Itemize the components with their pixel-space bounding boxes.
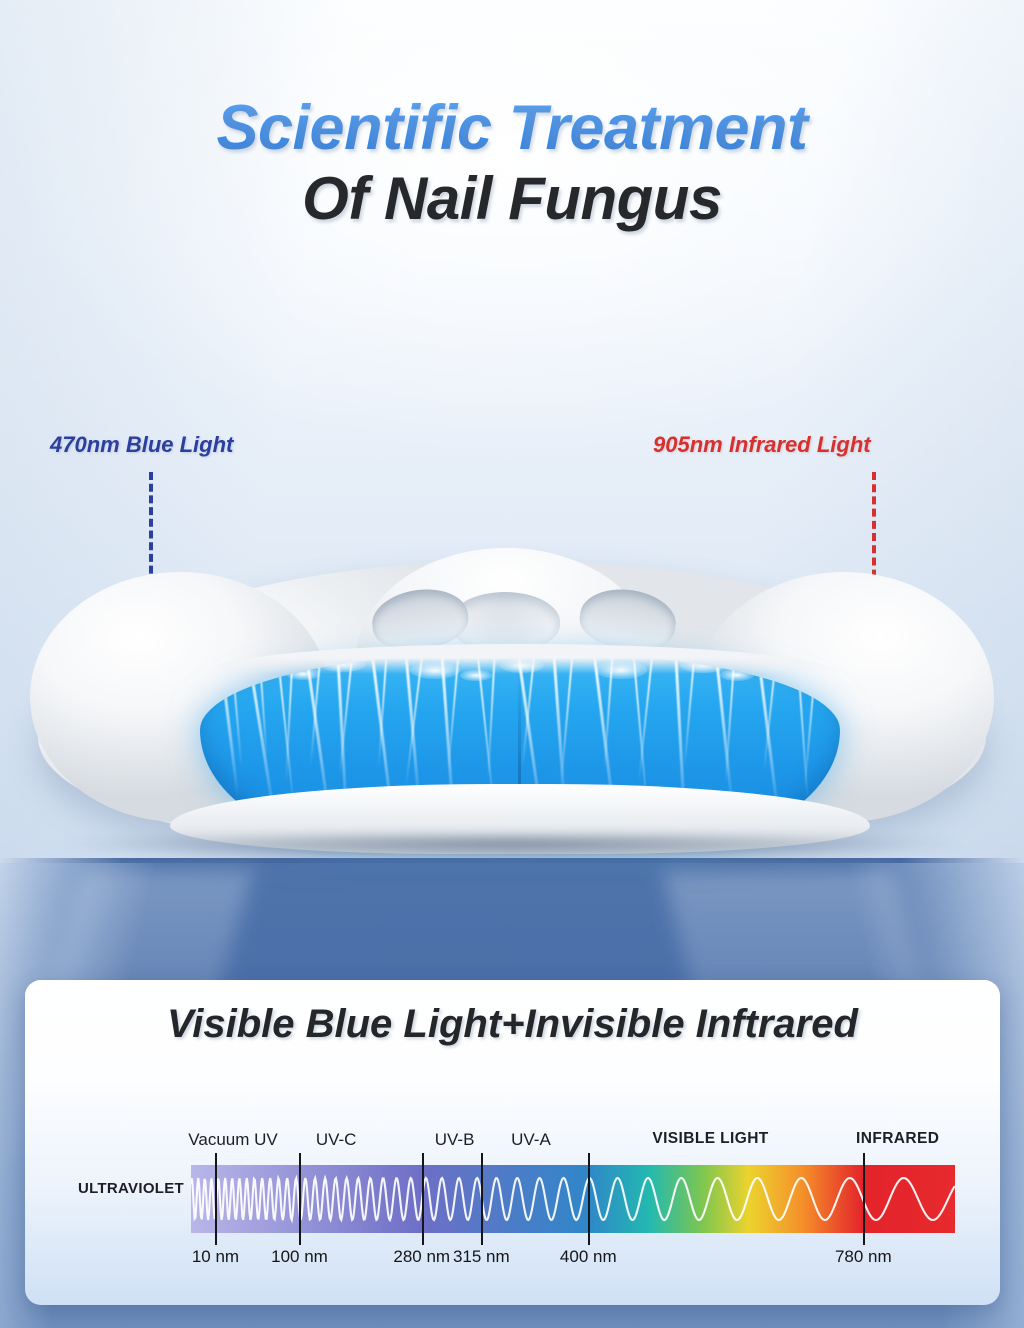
spectrum-tick bbox=[481, 1153, 483, 1245]
spectrum-tick-label: 280 nm bbox=[393, 1247, 450, 1267]
callout-infrared-light-label: 905nm Infrared Light bbox=[653, 432, 871, 458]
spectrum-tick bbox=[422, 1153, 424, 1245]
spectrum-band-label: INFRARED bbox=[856, 1130, 939, 1148]
spectrum-tick-label: 10 nm bbox=[192, 1247, 239, 1267]
device-illustration bbox=[20, 548, 1004, 866]
headline-line-2: Of Nail Fungus bbox=[0, 168, 1024, 229]
device-contact-shadow bbox=[60, 834, 964, 860]
light-ray bbox=[552, 654, 565, 804]
spectrum-band-label: Vacuum UV bbox=[188, 1130, 277, 1150]
spectrum-card: Visible Blue Light+Invisible Inftrared U… bbox=[25, 980, 1000, 1305]
spectrum-tick bbox=[588, 1153, 590, 1245]
spectrum-band-labels: Vacuum UVUV-CUV-BUV-AVISIBLE LIGHTINFRAR… bbox=[25, 980, 1000, 1020]
spectrum-band-label: VISIBLE LIGHT bbox=[652, 1130, 768, 1148]
headline-block: Scientific Treatment Of Nail Fungus bbox=[0, 96, 1024, 229]
infographic-stage: Scientific Treatment Of Nail Fungus 470n… bbox=[0, 0, 1024, 1328]
spectrum-bar bbox=[191, 1165, 955, 1233]
spectrum-tick-label: 400 nm bbox=[560, 1247, 617, 1267]
spectrum-tick-label: 780 nm bbox=[835, 1247, 892, 1267]
callout-blue-light-label: 470nm Blue Light bbox=[50, 432, 233, 458]
headline-line-1: Scientific Treatment bbox=[0, 96, 1024, 160]
spectrum-tick bbox=[863, 1153, 865, 1245]
spectrum-band-label: UV-A bbox=[511, 1130, 551, 1150]
spectrum-diagram: ULTRAVIOLET Vacuum UVUV-CUV-BUV-AVISIBLE… bbox=[25, 980, 1000, 1305]
spectrum-tick-label: 315 nm bbox=[453, 1247, 510, 1267]
spectrum-band-label: UV-C bbox=[316, 1130, 357, 1150]
spectrum-waveform-icon bbox=[191, 1165, 955, 1233]
spectrum-tick-label: 100 nm bbox=[271, 1247, 328, 1267]
spectrum-band-label: UV-B bbox=[435, 1130, 475, 1150]
spectrum-region-label-ultraviolet: ULTRAVIOLET bbox=[56, 1180, 206, 1197]
spectrum-tick bbox=[299, 1153, 301, 1245]
spectrum-sine-wave bbox=[191, 1178, 954, 1220]
spectrum-tick bbox=[215, 1153, 217, 1245]
